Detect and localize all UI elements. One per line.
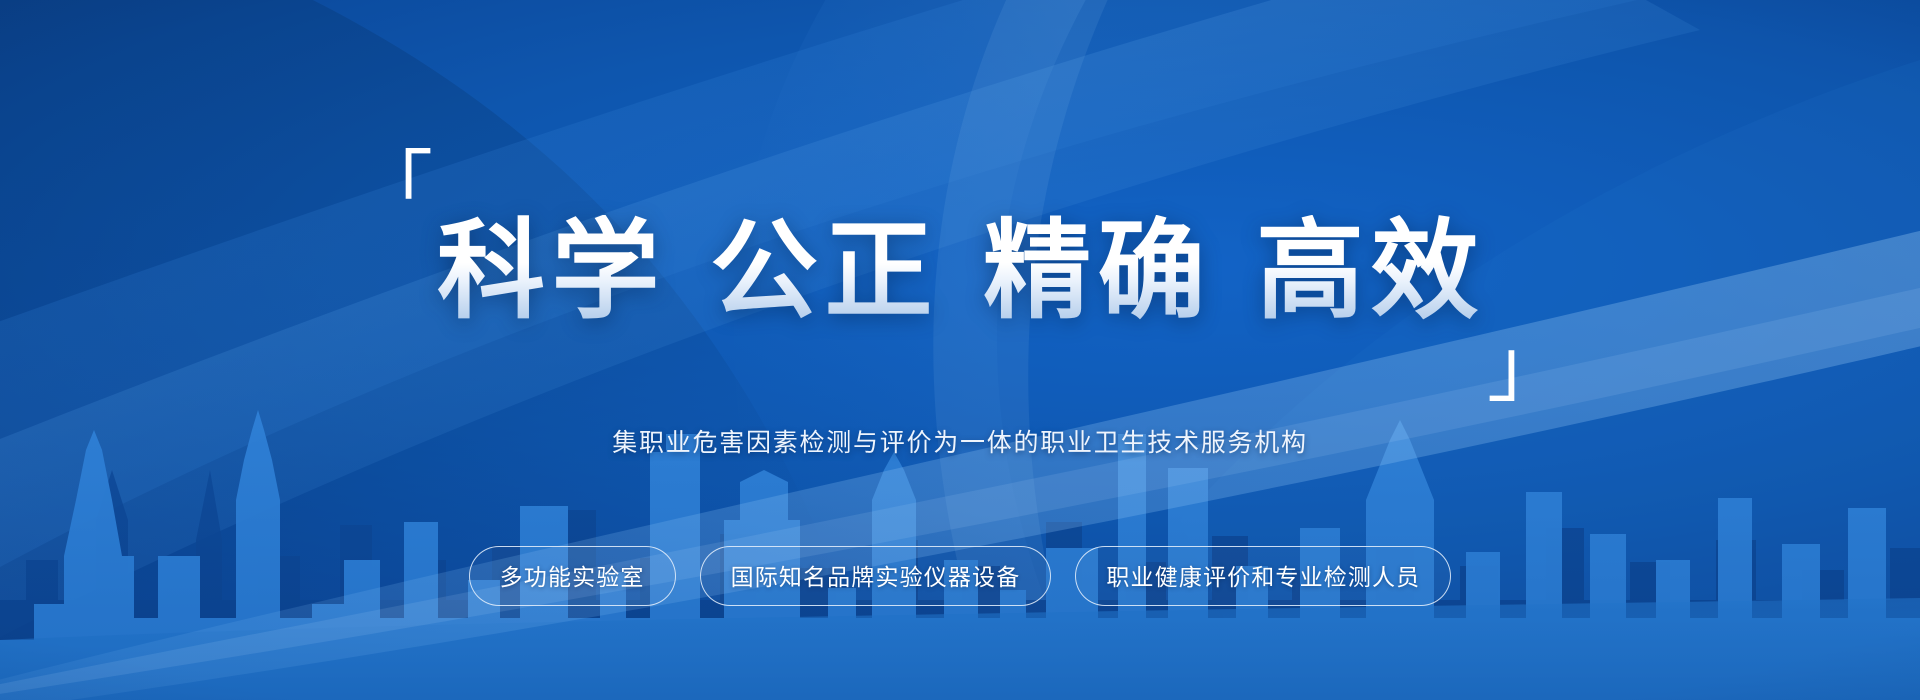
page-title: 科学 公正 精确 高效 — [437, 215, 1485, 328]
bracket-close-mark: 」 — [1487, 329, 1565, 407]
feature-pill-staff[interactable]: 职业健康评价和专业检测人员 — [1075, 546, 1451, 606]
headline-group: 「 科学 公正 精确 高效 」 — [355, 143, 1565, 401]
subtitle: 集职业危害因素检测与评价为一体的职业卫生技术服务机构 — [612, 423, 1308, 459]
feature-pill-row: 多功能实验室 国际知名品牌实验仪器设备 职业健康评价和专业检测人员 — [469, 546, 1452, 606]
hero-banner: 「 科学 公正 精确 高效 」 集职业危害因素检测与评价为一体的职业卫生技术服务… — [0, 0, 1920, 700]
bracket-open-mark: 「 — [355, 149, 433, 227]
banner-content: 「 科学 公正 精确 高效 」 集职业危害因素检测与评价为一体的职业卫生技术服务… — [0, 0, 1920, 700]
feature-pill-equipment[interactable]: 国际知名品牌实验仪器设备 — [700, 546, 1052, 606]
feature-pill-lab[interactable]: 多功能实验室 — [469, 546, 676, 606]
